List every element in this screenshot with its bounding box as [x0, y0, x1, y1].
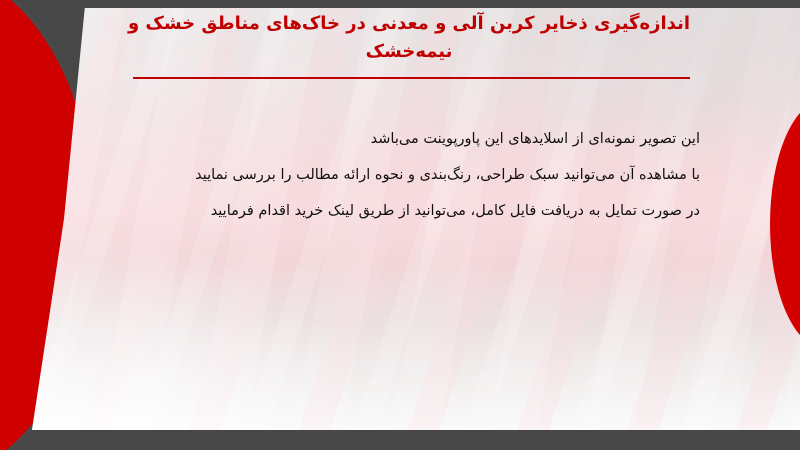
body-line-1: این تصویر نمونه‌ای از اسلایدهای این پاور… [130, 122, 700, 158]
title-red-rule [133, 77, 690, 79]
presentation-slide: اندازه‌گیری ذخایر کربن آلی و معدنی در خا… [0, 0, 800, 450]
body-line-3: در صورت تمایل به دریافت فایل کامل، می‌تو… [130, 194, 700, 230]
slide-body-text: این تصویر نمونه‌ای از اسلایدهای این پاور… [130, 122, 700, 230]
body-line-2: با مشاهده آن می‌توانید سبک طراحی، رنگ‌بن… [130, 158, 700, 194]
slide-title: اندازه‌گیری ذخایر کربن آلی و معدنی در خا… [120, 10, 698, 66]
